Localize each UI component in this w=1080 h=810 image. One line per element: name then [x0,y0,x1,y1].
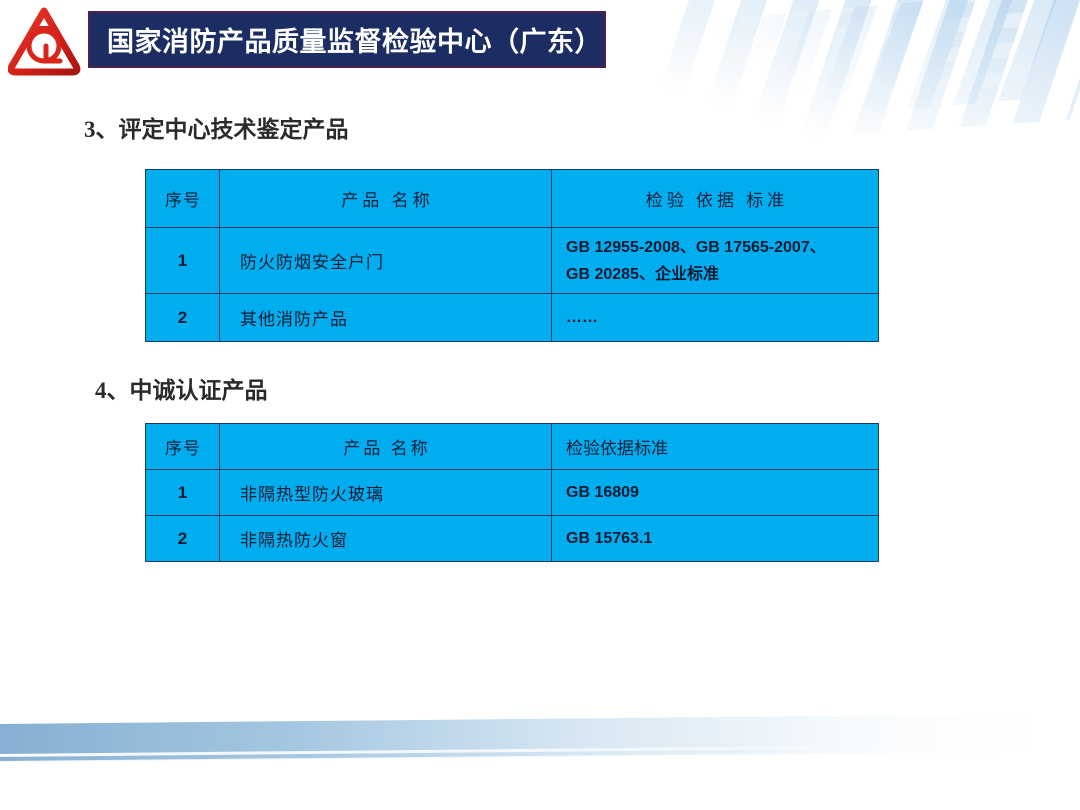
slide-title: 国家消防产品质量监督检验中心（广东） [90,20,602,59]
slide: 国家消防产品质量监督检验中心（广东） 3、评定中心技术鉴定产品 序号 产品 名称… [0,0,1080,810]
footer-decoration-line-secondary [0,751,1080,763]
footer-decoration-line [0,744,1080,757]
table-row: 1 防火防烟安全户门 GB 12955-2008、GB 17565-2007、 … [146,228,879,294]
cell-standard: …… [552,294,879,342]
cell-standard: GB 12955-2008、GB 17565-2007、 GB 20285、企业… [552,228,879,294]
column-header-standard: 检验依据标准 [552,424,879,470]
column-header-no: 序号 [146,424,220,470]
table-header-row: 序号 产品 名称 检验依据标准 [146,424,879,470]
cell-standard: GB 15763.1 [552,516,879,562]
column-header-product: 产品 名称 [220,424,552,470]
section-heading-4: 4、中诚认证产品 [95,371,268,405]
column-header-no: 序号 [146,170,220,228]
standard-line-2-code: GB 20285、 [566,266,655,283]
certification-products-table: 序号 产品 名称 检验依据标准 1 非隔热型防火玻璃 GB 16809 2 非隔… [145,423,879,562]
section-heading-3: 3、评定中心技术鉴定产品 [84,110,349,144]
cell-row-number: 1 [146,470,220,516]
cell-standard: GB 16809 [552,470,879,516]
cell-product-name: 非隔热型防火玻璃 [220,470,552,516]
checker-pattern-decoration-secondary [679,0,1060,128]
standard-line-2-cn: 企业标准 [655,266,719,283]
column-header-product: 产品 名称 [220,170,552,228]
checker-pattern-decoration [639,0,1080,149]
footer-decoration-band [0,714,1080,762]
table-header-row: 序号 产品 名称 检验 依据 标准 [146,170,879,228]
cell-product-name: 非隔热防火窗 [220,516,552,562]
table-row: 1 非隔热型防火玻璃 GB 16809 [146,470,879,516]
approval-products-table: 序号 产品 名称 检验 依据 标准 1 防火防烟安全户门 GB 12955-20… [145,169,879,342]
cell-row-number: 2 [146,294,220,342]
qg-logo [8,6,84,78]
cell-product-name: 其他消防产品 [220,294,552,342]
table-row: 2 非隔热防火窗 GB 15763.1 [146,516,879,562]
column-header-standard: 检验 依据 标准 [552,170,879,228]
cell-row-number: 2 [146,516,220,562]
cell-row-number: 1 [146,228,220,294]
cell-product-name: 防火防烟安全户门 [220,228,552,294]
slide-title-bar: 国家消防产品质量监督检验中心（广东） [88,11,606,68]
table-row: 2 其他消防产品 …… [146,294,879,342]
standard-line-1: GB 12955-2008、GB 17565-2007、 [566,239,826,256]
